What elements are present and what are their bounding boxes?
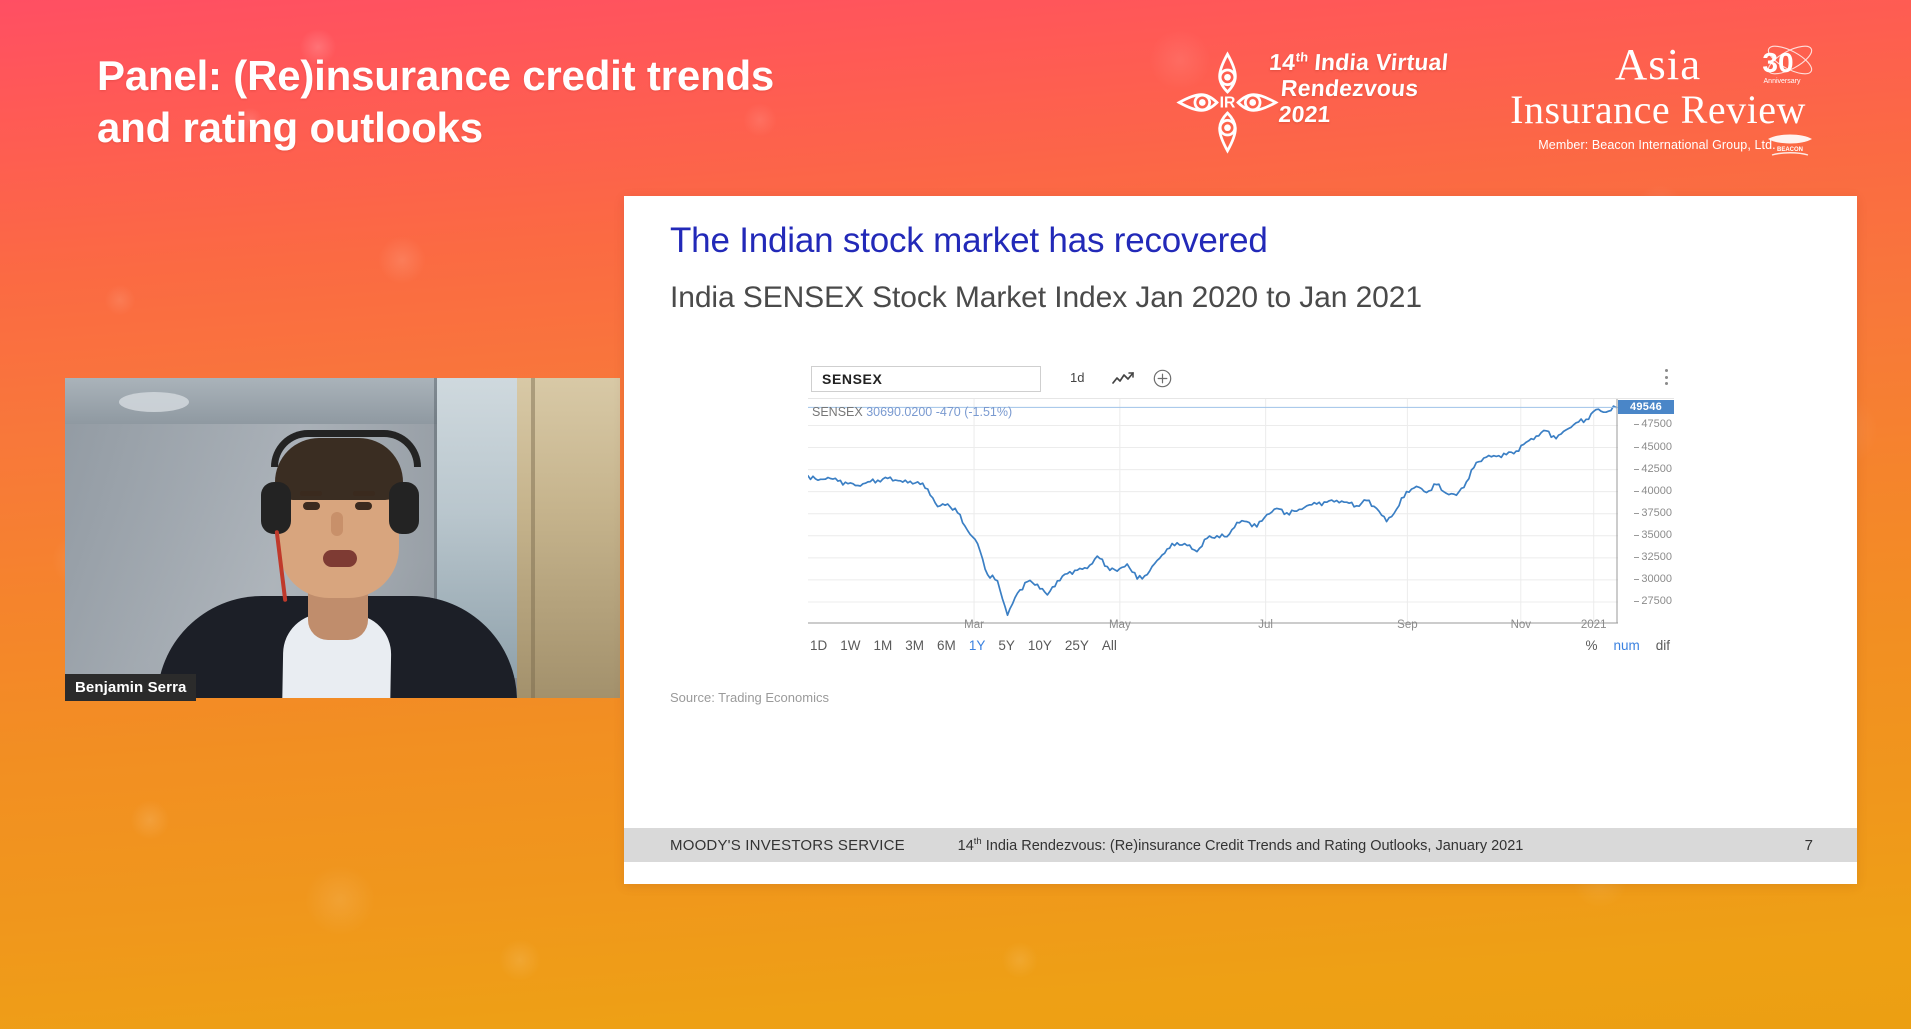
x-axis-tick: Nov bbox=[1511, 619, 1531, 631]
ceiling-lamp bbox=[119, 392, 189, 412]
svg-text:IR: IR bbox=[1220, 95, 1236, 112]
legend-change: -470 (-1.51%) bbox=[936, 405, 1012, 419]
y-axis-tick: 40000 bbox=[1641, 485, 1672, 497]
kebab-menu-icon[interactable] bbox=[1664, 369, 1668, 389]
y-axis-tick: 35000 bbox=[1641, 529, 1672, 541]
x-axis-tick: Sep bbox=[1397, 619, 1417, 631]
page-title: Panel: (Re)insurance credit trends and r… bbox=[97, 50, 997, 154]
chart-source-note: Source: Trading Economics bbox=[670, 690, 829, 705]
beacon-group-mark-icon: BEACON bbox=[1764, 132, 1816, 158]
iro-line-2: Rendezvous 2021 bbox=[1264, 75, 1477, 127]
unit-button-num[interactable]: num bbox=[1613, 638, 1639, 653]
x-axis-ticks: MarMayJulSepNov2021 bbox=[808, 616, 1618, 636]
chart-legend: SENSEX 30690.0200 -470 (-1.51%) bbox=[812, 405, 1012, 419]
range-button-6m[interactable]: 6M bbox=[937, 638, 956, 653]
asia-insurance-review-logo: Asia Insurance Review Member: Beacon Int… bbox=[1512, 42, 1812, 152]
footer-center-text: 14th India Rendezvous: (Re)insurance Cre… bbox=[958, 836, 1524, 854]
range-button-1d[interactable]: 1D bbox=[810, 638, 827, 653]
y-axis-tick: 30000 bbox=[1641, 573, 1672, 585]
headset-earcup-left bbox=[261, 482, 291, 534]
iro-event-logo: IR 14th India Virtual Rendezvous 2021 bbox=[1175, 40, 1475, 160]
slide-footer: MOODY'S INVESTORS SERVICE 14th India Ren… bbox=[624, 828, 1857, 862]
range-button-25y[interactable]: 25Y bbox=[1065, 638, 1089, 653]
x-axis-tick: May bbox=[1109, 619, 1131, 631]
chart-plot-area[interactable]: SENSEX 30690.0200 -470 (-1.51%) 49546 27… bbox=[808, 399, 1674, 636]
y-axis-tick: 32500 bbox=[1641, 551, 1672, 563]
curtain-fold bbox=[531, 378, 535, 698]
x-axis-tick: Mar bbox=[964, 619, 984, 631]
iro-diamond-mark: IR bbox=[1175, 50, 1280, 155]
person-eyebrow-right bbox=[353, 491, 375, 496]
x-axis-tick: 2021 bbox=[1581, 619, 1607, 631]
range-button-3m[interactable]: 3M bbox=[905, 638, 924, 653]
svg-text:30: 30 bbox=[1762, 47, 1793, 78]
footer-brand: MOODY'S INVESTORS SERVICE bbox=[670, 837, 905, 854]
unit-button-group: %numdif bbox=[1585, 638, 1670, 653]
range-button-group: 1D1W1M3M6M1Y5Y10Y25YAll bbox=[810, 638, 1117, 653]
legend-symbol: SENSEX bbox=[812, 405, 863, 419]
iro-line-1: 14th India Virtual bbox=[1268, 49, 1449, 75]
headset-earcup-right bbox=[389, 482, 419, 534]
participant-video-tile[interactable] bbox=[65, 378, 620, 698]
slide-title: The Indian stock market has recovered bbox=[670, 221, 1268, 261]
y-axis-tick: 45000 bbox=[1641, 441, 1672, 453]
chart-canvas bbox=[808, 399, 1618, 624]
range-button-10y[interactable]: 10Y bbox=[1028, 638, 1052, 653]
y-axis-tick: 27500 bbox=[1641, 595, 1672, 607]
range-button-all[interactable]: All bbox=[1102, 638, 1117, 653]
interval-selector[interactable]: 1d bbox=[1070, 370, 1084, 385]
line-chart-icon[interactable] bbox=[1112, 371, 1134, 387]
symbol-input[interactable]: SENSEX bbox=[811, 366, 1041, 392]
range-button-1y[interactable]: 1Y bbox=[969, 638, 986, 653]
range-button-1w[interactable]: 1W bbox=[840, 638, 860, 653]
participant-name-label: Benjamin Serra bbox=[65, 674, 196, 701]
range-button-1m[interactable]: 1M bbox=[874, 638, 893, 653]
unit-button-percent[interactable]: % bbox=[1585, 638, 1597, 653]
presentation-stage: Panel: (Re)insurance credit trends and r… bbox=[0, 0, 1911, 1029]
svg-text:Anniversary: Anniversary bbox=[1764, 78, 1801, 85]
slide-panel: The Indian stock market has recovered In… bbox=[624, 196, 1857, 884]
plus-circle-icon[interactable] bbox=[1153, 369, 1172, 388]
footer-page-number: 7 bbox=[1805, 837, 1813, 854]
person-eye-left bbox=[303, 502, 320, 510]
sensex-chart-widget[interactable]: SENSEX 1d SENSEX 30690.0200 bbox=[808, 365, 1674, 671]
person-eyebrow-left bbox=[300, 491, 322, 496]
y-axis-tick: 37500 bbox=[1641, 507, 1672, 519]
x-axis-tick: Jul bbox=[1258, 619, 1273, 631]
person-mouth bbox=[323, 550, 357, 567]
last-price-badge: 49546 bbox=[1618, 400, 1674, 414]
unit-button-dif[interactable]: dif bbox=[1656, 638, 1670, 653]
iro-logo-text: 14th India Virtual Rendezvous 2021 bbox=[1264, 49, 1479, 127]
chart-toolbar: SENSEX 1d bbox=[808, 365, 1674, 399]
person-eye-right bbox=[355, 502, 372, 510]
anniversary-30-badge-icon: 30 Anniversary bbox=[1752, 38, 1818, 98]
chart-gridlines bbox=[808, 399, 1618, 624]
y-axis-ticks: 2750030000325003500037500400004250045000… bbox=[1618, 399, 1674, 624]
person-nose bbox=[331, 512, 343, 536]
y-axis-tick: 42500 bbox=[1641, 463, 1672, 475]
headset-band bbox=[271, 430, 421, 467]
page-title-line-2: and rating outlooks bbox=[97, 102, 997, 154]
y-axis-tick: 47500 bbox=[1641, 418, 1672, 430]
page-title-line-1: Panel: (Re)insurance credit trends bbox=[97, 50, 997, 102]
slide-subtitle: India SENSEX Stock Market Index Jan 2020… bbox=[670, 281, 1422, 315]
legend-price: 30690.0200 bbox=[866, 405, 932, 419]
range-button-5y[interactable]: 5Y bbox=[998, 638, 1015, 653]
sensex-series-line bbox=[808, 406, 1616, 615]
chart-range-controls: 1D1W1M3M6M1Y5Y10Y25YAll %numdif bbox=[808, 636, 1674, 660]
